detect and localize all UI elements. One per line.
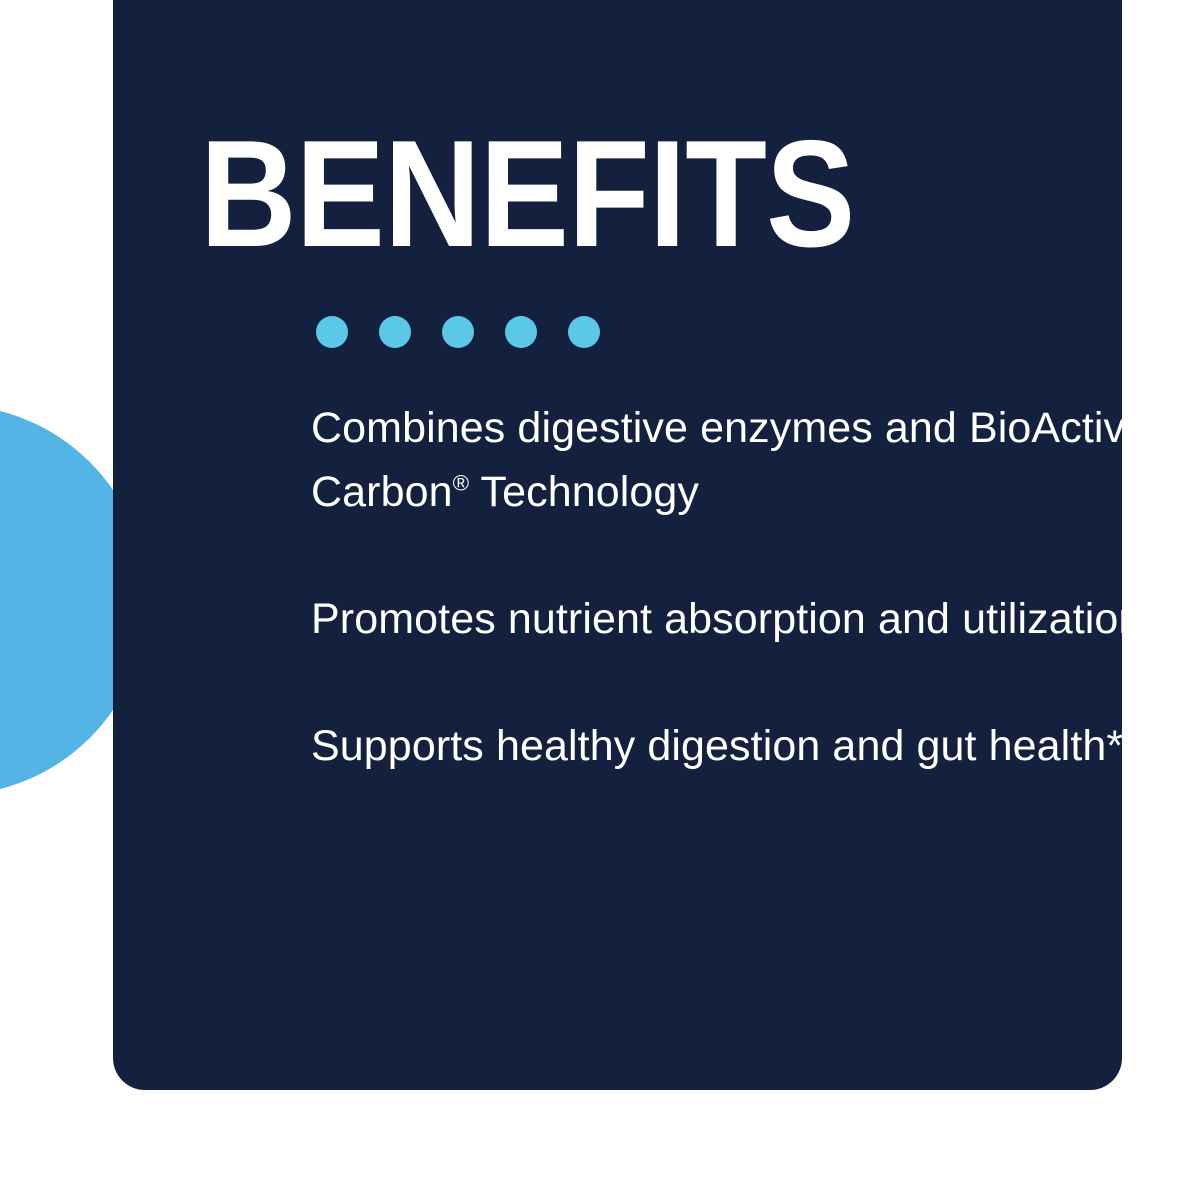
benefit-text-tail: Technology — [469, 468, 699, 516]
divider-dot-4-icon — [505, 316, 537, 348]
divider-dot-2-icon — [379, 316, 411, 348]
divider-dot-3-icon — [442, 316, 474, 348]
benefit-text-main: Combines digestive enzymes and BioActive… — [311, 404, 1149, 516]
divider-dots — [316, 316, 600, 348]
page-title: BENEFITS — [200, 118, 854, 270]
benefits-list: Combines digestive enzymes and BioActive… — [311, 396, 1191, 778]
benefit-text-main: Supports healthy digestion and gut healt… — [311, 722, 1123, 770]
benefits-panel: BENEFITS Combines digestive enzymes and … — [0, 0, 1200, 1200]
list-item: Supports healthy digestion and gut healt… — [311, 714, 1171, 778]
divider-dot-5-icon — [568, 316, 600, 348]
benefits-card: BENEFITS Combines digestive enzymes and … — [113, 0, 1122, 1090]
list-item: Promotes nutrient absorption and utiliza… — [311, 587, 1171, 651]
list-item: Combines digestive enzymes and BioActive… — [311, 396, 1171, 524]
benefit-text-main: Promotes nutrient absorption and utiliza… — [311, 595, 1159, 643]
divider-dot-1-icon — [316, 316, 348, 348]
registered-trademark-icon: ® — [453, 471, 470, 496]
